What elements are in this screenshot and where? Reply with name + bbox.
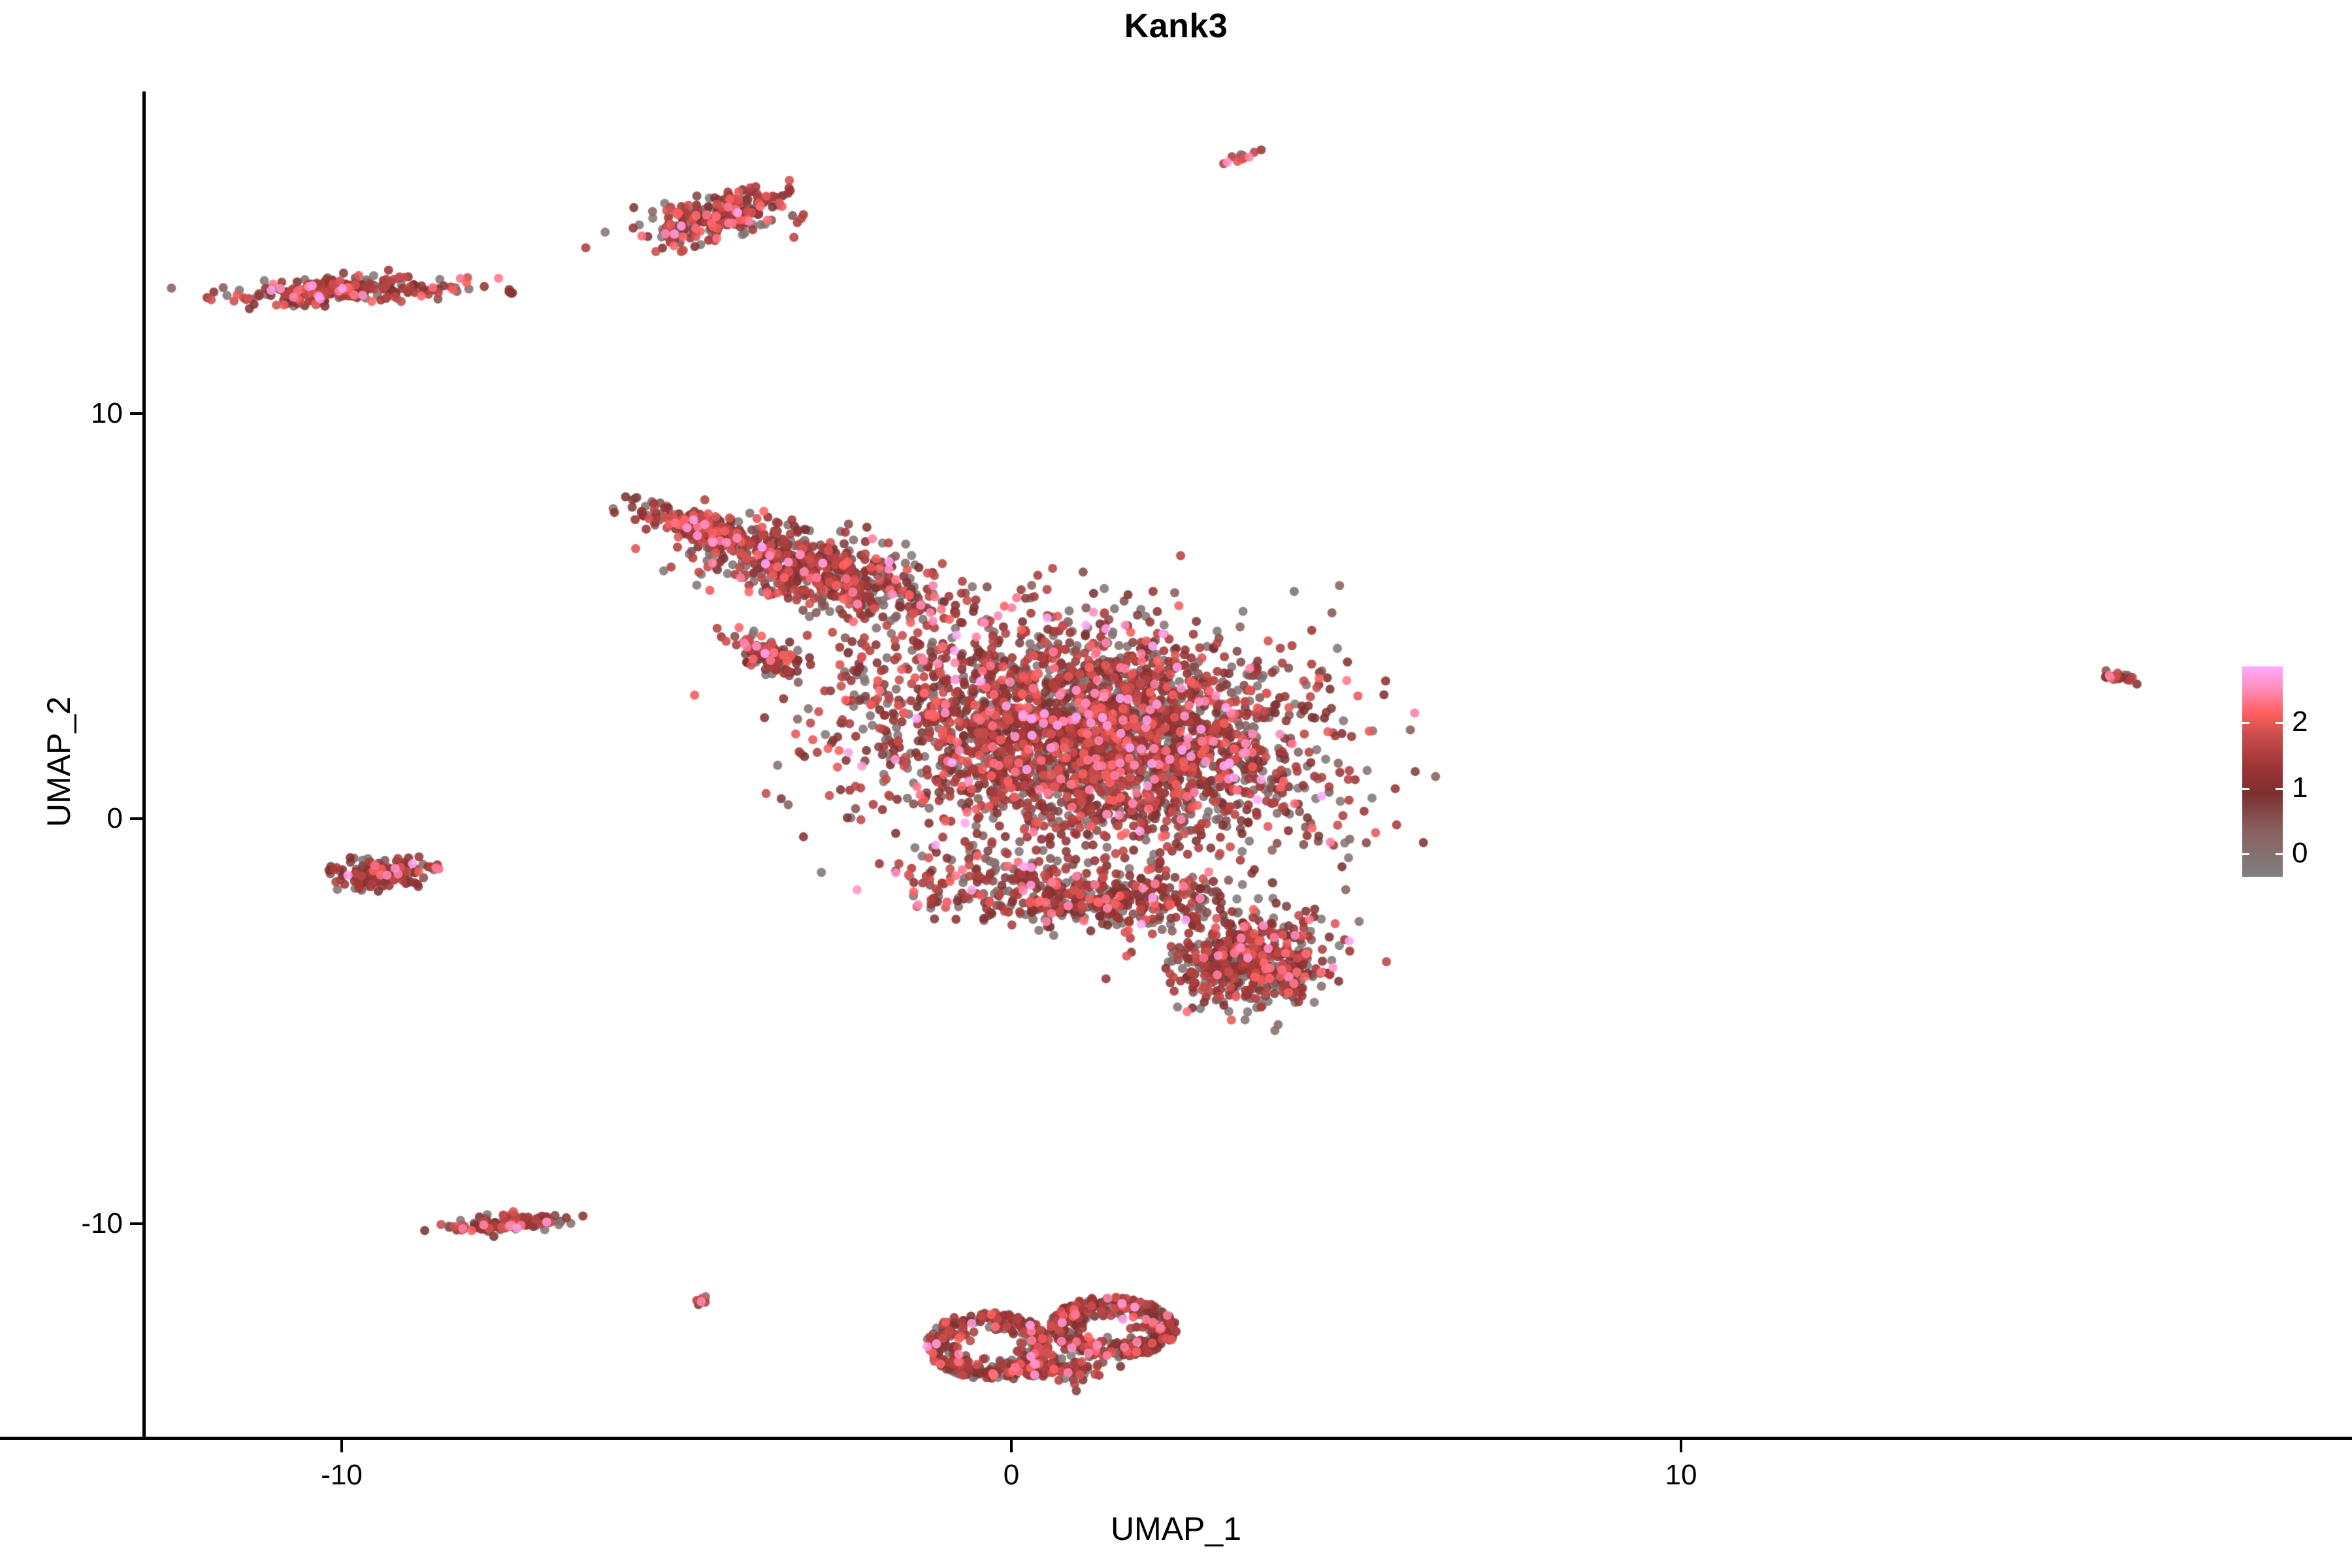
x-tick-label: 10 bbox=[1665, 1461, 1697, 1490]
y-tick-label: 0 bbox=[107, 804, 123, 833]
plot-panel bbox=[145, 91, 2203, 1437]
x-tick-label: -10 bbox=[321, 1461, 363, 1490]
y-axis-line bbox=[142, 91, 146, 1439]
scatter-plot-canvas bbox=[145, 91, 2203, 1437]
y-tick-label: -10 bbox=[81, 1209, 123, 1238]
x-axis-line bbox=[0, 1437, 2352, 1440]
colorbar-tick-label: 0 bbox=[2292, 839, 2308, 868]
umap-feature-plot: Kank3 -10010 -10010 UMAP_1 UMAP_2 012 bbox=[0, 0, 2352, 1568]
x-tick-label: 0 bbox=[1004, 1461, 1019, 1490]
y-tick-mark bbox=[130, 1222, 142, 1225]
y-tick-mark bbox=[130, 412, 142, 415]
y-axis-label: UMAP_2 bbox=[41, 89, 77, 1435]
x-tick-mark bbox=[340, 1440, 343, 1452]
x-tick-mark bbox=[1680, 1440, 1682, 1452]
page-title: Kank3 bbox=[0, 5, 2352, 47]
colorbar-tick-label: 2 bbox=[2292, 708, 2308, 736]
y-tick-label: 10 bbox=[91, 399, 123, 428]
y-tick-mark bbox=[130, 817, 142, 820]
colorbar-tick-label: 1 bbox=[2292, 774, 2308, 802]
x-axis-label: UMAP_1 bbox=[0, 1511, 2352, 1547]
x-tick-mark bbox=[1010, 1440, 1013, 1452]
colorbar-gradient bbox=[2242, 666, 2283, 877]
